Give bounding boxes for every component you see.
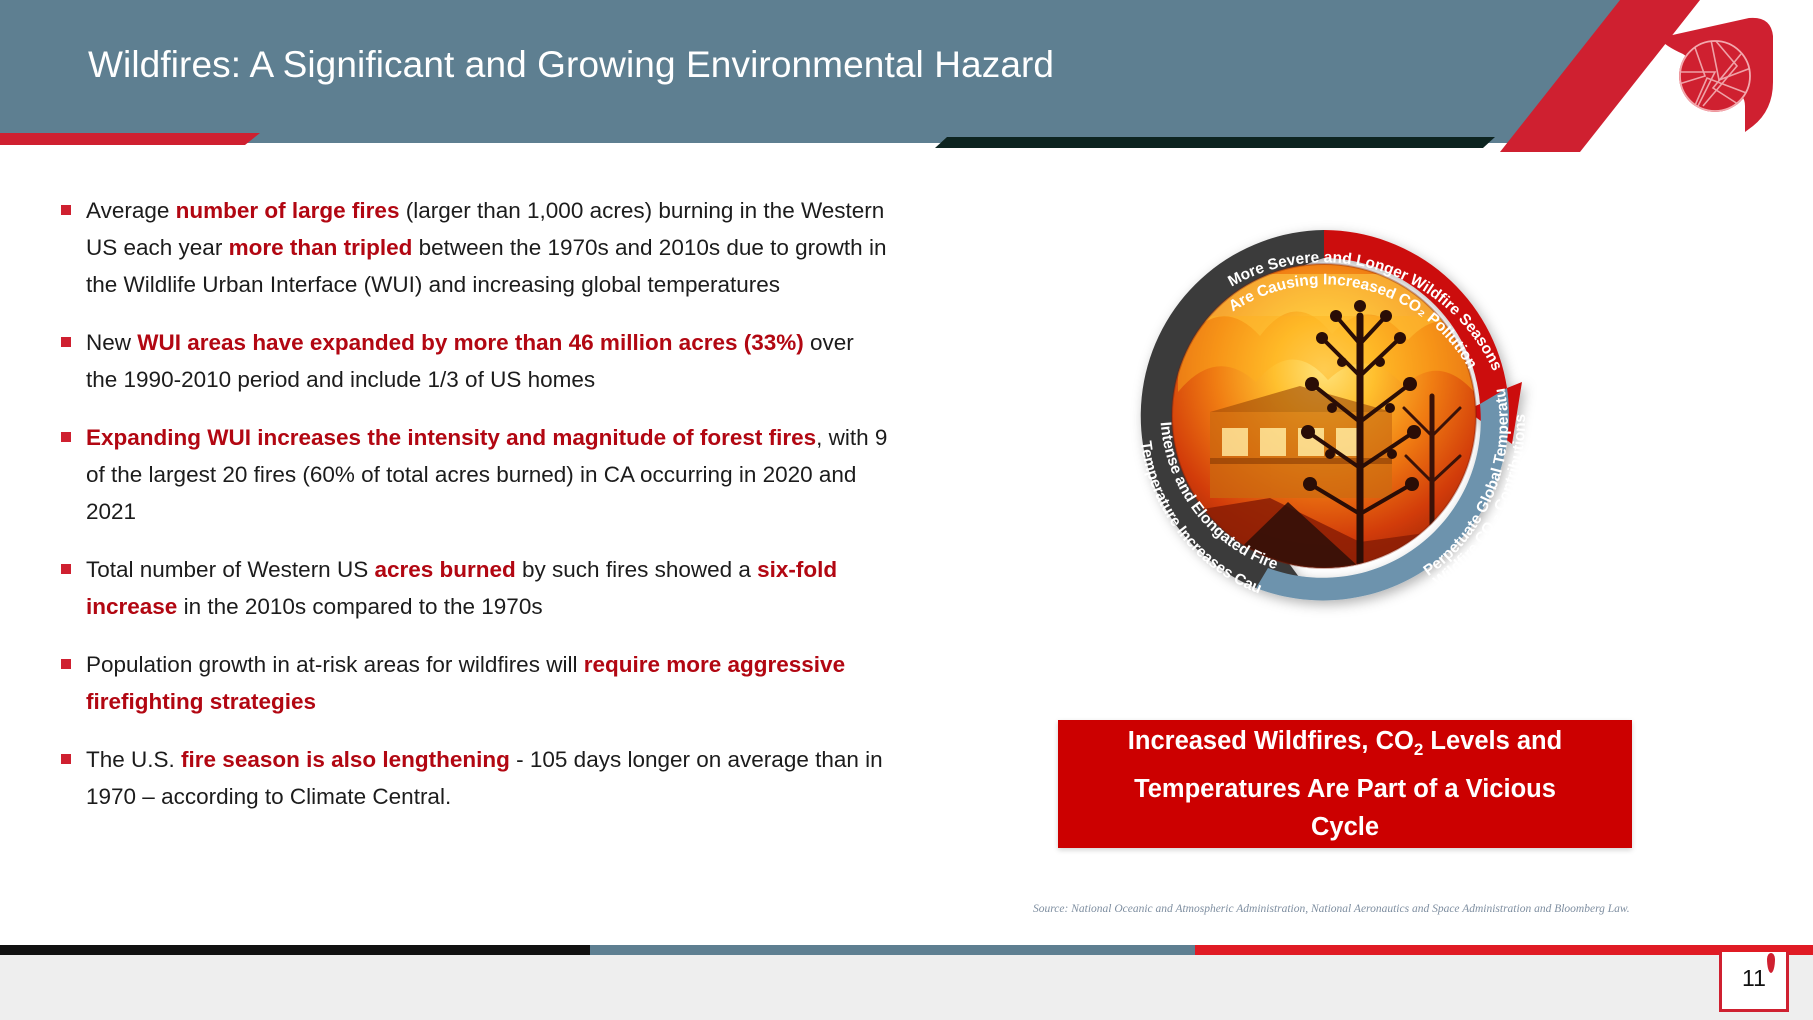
bullet-highlight-run: number of large fires — [176, 198, 400, 223]
page-number: 11 — [1719, 965, 1789, 992]
bullet-highlight-run: acres burned — [374, 557, 515, 582]
bullet-highlight-run: Expanding WUI increases the intensity an… — [86, 425, 816, 450]
bullet-large-fires: Average number of large fires (larger th… — [58, 192, 888, 303]
footer-bar-blue — [590, 945, 1195, 955]
bullet-wui-intensity: Expanding WUI increases the intensity an… — [58, 419, 888, 530]
callout-line3: Cycle — [1311, 813, 1379, 841]
callout-line2: Temperatures Are Part of a Vicious — [1134, 775, 1556, 803]
callout-box: Increased Wildfires, CO2 Levels and Temp… — [1058, 720, 1632, 848]
bullet-highlight-run: more than tripled — [229, 235, 413, 260]
aperture-location-pin-logo — [1653, 10, 1785, 140]
callout-line1: Increased Wildfires, CO — [1128, 727, 1414, 755]
footer-bar-black — [0, 945, 590, 955]
page-title: Wildfires: A Significant and Growing Env… — [88, 44, 1054, 86]
bullet-fire-season: The U.S. fire season is also lengthening… — [58, 741, 888, 815]
footer-color-bars — [0, 945, 1813, 955]
bullet-wui-expansion: New WUI areas have expanded by more than… — [58, 324, 888, 398]
slide: Wildfires: A Significant and Growing Env… — [0, 0, 1813, 1020]
callout-text: Increased Wildfires, CO2 Levels and Temp… — [1106, 722, 1584, 845]
bullet-highlight-run: fire season is also lengthening — [181, 747, 510, 772]
bullet-list: Average number of large fires (larger th… — [58, 192, 888, 836]
footer-area — [0, 955, 1813, 1020]
callout-sub: 2 — [1414, 741, 1423, 760]
bullet-text-run: Total number of Western US — [86, 557, 374, 582]
bullet-text-run: Average — [86, 198, 176, 223]
bullet-highlight-run: WUI areas have expanded by more than 46 … — [137, 330, 804, 355]
bullet-text-run: New — [86, 330, 137, 355]
bullet-text-run: by such fires showed a — [516, 557, 757, 582]
source-note: Source: National Oceanic and Atmospheric… — [1033, 903, 1630, 915]
bullet-acres-burned: Total number of Western US acres burned … — [58, 551, 888, 625]
bullet-population-growth: Population growth in at-risk areas for w… — [58, 646, 888, 720]
vicious-cycle-wildfire-diagram: More Severe and Longer Wildfire Seasons … — [1060, 196, 1588, 636]
bullet-text-run: in the 2010s compared to the 1970s — [177, 594, 542, 619]
bullet-text-run: Population growth in at-risk areas for w… — [86, 652, 584, 677]
header-red-underline — [0, 133, 260, 145]
header-dark-underline — [935, 137, 1495, 148]
bullet-text-run: The U.S. — [86, 747, 181, 772]
callout-line1b: Levels and — [1423, 727, 1562, 755]
